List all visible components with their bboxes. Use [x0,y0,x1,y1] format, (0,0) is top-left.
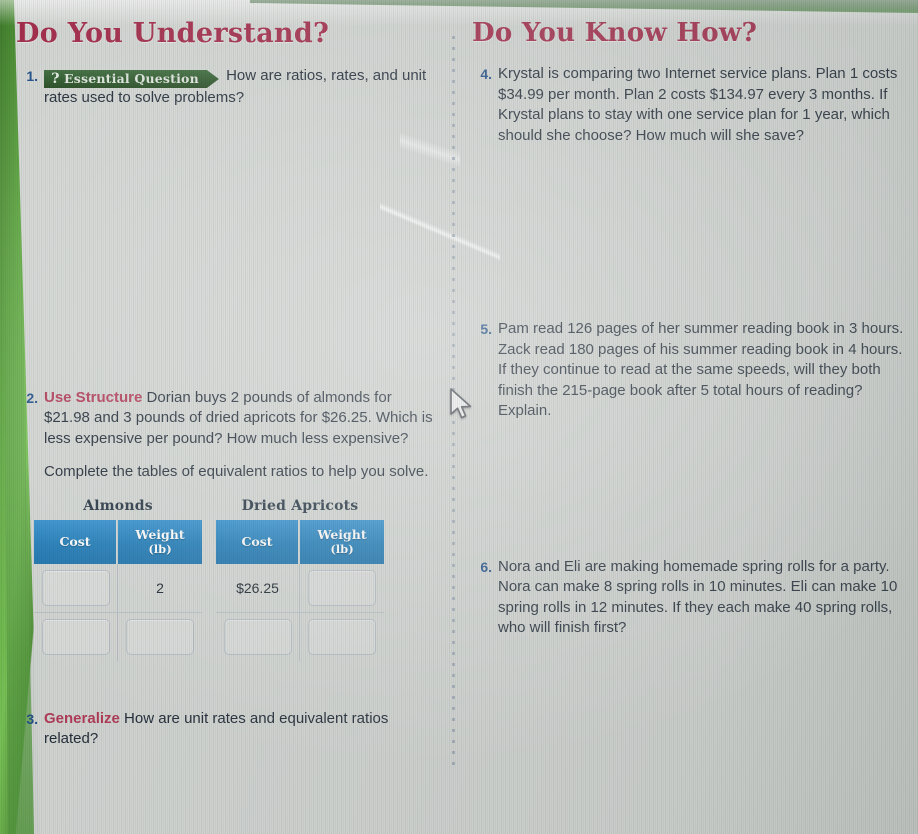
question-1-number: 1. [16,66,44,87]
input-box[interactable] [126,619,194,655]
question-6: 6. Nora and Eli are making homemade spri… [470,557,906,639]
question-1: 1. ? Essential Question How are ratios, … [16,66,436,109]
table-header-cost: Cost [216,520,300,564]
table-header-row: Cost Weight (lb) [34,520,202,564]
essential-question-badge-label: Essential Question [64,71,199,86]
table-caption-almonds: Almonds [34,498,202,514]
cell-apricots-cost-1: $26.25 [216,564,300,613]
question-mark-icon: ? [48,71,63,87]
cell-almonds-weight-1: 2 [118,564,202,613]
question-3: 3. Generalize How are unit rates and equ… [16,709,436,750]
right-column: Do You Know How? 4. Krystal is comparing… [470,18,906,639]
question-5-number: 5. [470,319,498,340]
cell-almonds-cost-1[interactable] [34,564,118,613]
question-3-body: Generalize How are unit rates and equiva… [44,709,436,750]
table-row: 2 [34,564,202,613]
equivalent-ratio-tables: Almonds Cost Weight (lb) [34,498,436,661]
input-box[interactable] [42,570,110,606]
table-row: $26.25 [216,564,384,613]
question-2-lead: Use Structure [44,389,142,406]
table-caption-dried-apricots: Dried Apricots [216,498,384,514]
textbook-page: Do You Understand? 1. ? Essential Questi… [0,0,918,834]
cell-apricots-cost-2[interactable] [216,613,300,661]
table-block-dried-apricots: Dried Apricots Cost Weight (lb) [216,498,384,661]
input-box[interactable] [224,619,292,655]
table-dried-apricots: Cost Weight (lb) $26.25 [216,520,384,661]
table-almonds: Cost Weight (lb) [34,520,202,661]
question-4-text: Krystal is comparing two Internet servic… [498,64,906,146]
question-6-text: Nora and Eli are making homemade spring … [498,557,906,639]
table-header-weight: Weight (lb) [300,520,384,564]
input-box[interactable] [308,570,376,606]
question-3-lead: Generalize [44,710,120,727]
table-header-weight: Weight (lb) [118,520,202,564]
page-title-do-you-know-how: Do You Know How? [472,18,906,48]
question-5-text: Pam read 126 pages of her summer reading… [498,319,906,422]
input-box[interactable] [42,619,110,655]
page-title-do-you-understand: Do You Understand? [16,18,436,49]
cell-almonds-cost-2[interactable] [34,613,118,661]
question-6-number: 6. [470,557,498,578]
cell-apricots-weight-2[interactable] [300,613,384,661]
question-2-body: Use Structure Dorian buys 2 pounds of al… [44,388,436,483]
question-2-number: 2. [16,388,44,409]
table-row [34,613,202,661]
essential-question-badge[interactable]: ? Essential Question [44,70,219,88]
question-4: 4. Krystal is comparing two Internet ser… [470,64,906,146]
book-top-edge [250,0,918,16]
question-2: 2. Use Structure Dorian buys 2 pounds of… [16,388,436,483]
cell-almonds-weight-2[interactable] [118,613,202,661]
question-2-subtext: Complete the tables of equivalent ratios… [44,462,436,483]
question-4-number: 4. [470,64,498,85]
question-5: 5. Pam read 126 pages of her summer read… [470,319,906,422]
cell-apricots-weight-1[interactable] [300,564,384,613]
left-column: Do You Understand? 1. ? Essential Questi… [16,18,436,750]
input-box[interactable] [308,619,376,655]
column-divider [452,36,455,766]
question-1-body: ? Essential Question How are ratios, rat… [44,66,436,109]
table-row [216,613,384,661]
table-block-almonds: Almonds Cost Weight (lb) [34,498,202,661]
table-header-cost: Cost [34,520,118,564]
question-3-number: 3. [16,709,44,730]
table-header-row: Cost Weight (lb) [216,520,384,564]
